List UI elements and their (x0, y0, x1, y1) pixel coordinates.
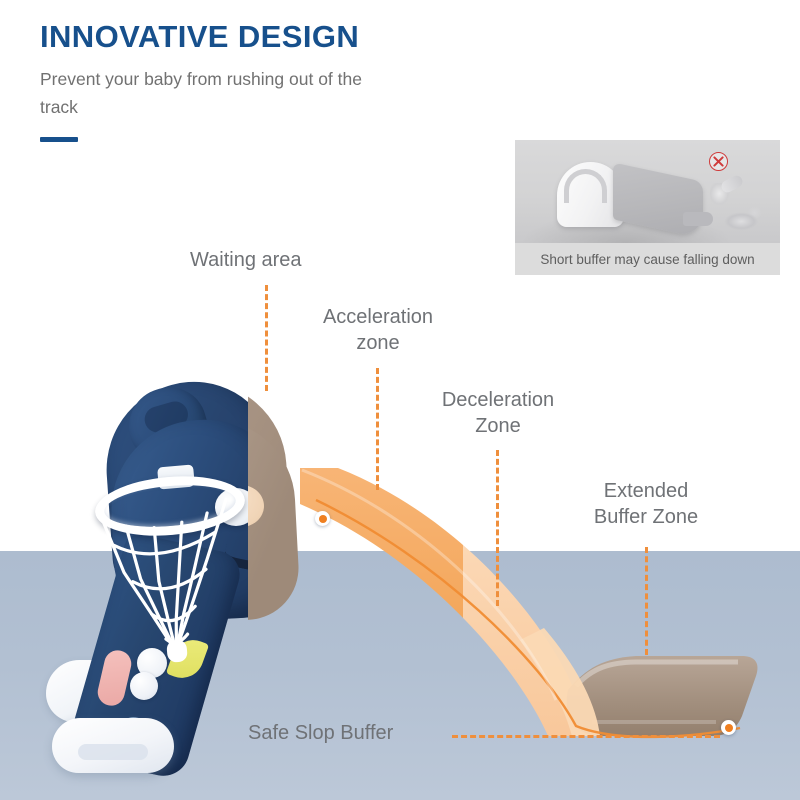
leader-extended-buffer-zone (645, 547, 648, 655)
label-deceleration-zone: Deceleration Zone (422, 388, 574, 439)
leader-safe-slop-buffer (452, 735, 720, 738)
marker-dot-upper (315, 511, 330, 526)
slide-ramp (0, 0, 800, 800)
infographic-canvas: INNOVATIVE DESIGN Prevent your baby from… (0, 0, 800, 800)
product-illustration (0, 0, 800, 800)
label-extended-buffer-zone: Extended Buffer Zone (570, 479, 722, 530)
leader-acceleration-zone (376, 368, 379, 490)
label-safe-slop-buffer: Safe Slop Buffer (248, 721, 393, 747)
label-waiting-area: Waiting area (190, 248, 302, 274)
leader-deceleration-zone (496, 450, 499, 606)
marker-dot-lower (721, 720, 736, 735)
label-acceleration-zone: Acceleration zone (302, 305, 454, 356)
leader-waiting-area (265, 285, 268, 391)
